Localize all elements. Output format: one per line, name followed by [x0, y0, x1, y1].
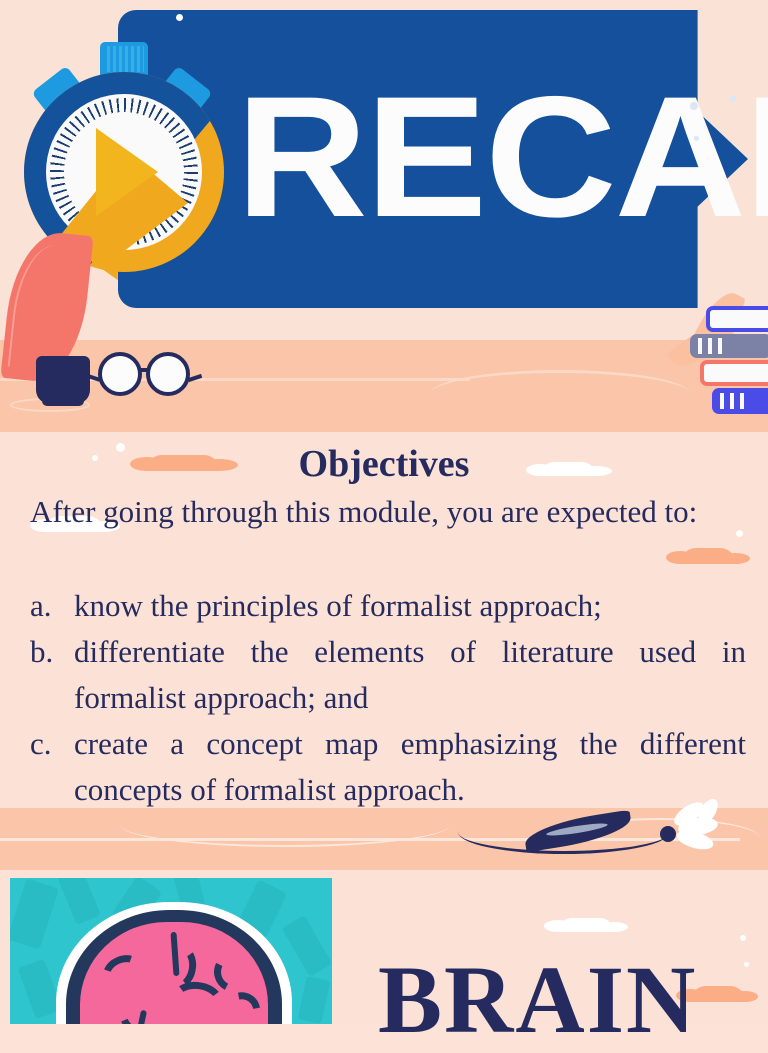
book-icon-4 [712, 388, 768, 414]
cloud-icon [690, 986, 746, 1002]
sparkle-dot-icon [744, 962, 749, 967]
book-icon-1 [706, 306, 768, 332]
brain-bg-pattern [282, 915, 332, 976]
play-triangle-icon [96, 128, 158, 216]
brain-bg-pattern [298, 976, 331, 1024]
objectives-list: a. know the principles of formalist appr… [30, 583, 746, 813]
brain-heading: BRAIN [378, 952, 697, 1048]
page-title: Objectives [0, 442, 768, 486]
glasses-bridge [140, 368, 150, 372]
book-icon-2 [690, 334, 768, 358]
sparkle-dot-icon [740, 935, 746, 941]
list-item-marker: b. [30, 629, 74, 721]
quill-knob-icon [660, 826, 676, 842]
sparkle-dot-icon [694, 136, 699, 141]
list-item-text: differentiate the elements of literature… [74, 629, 746, 721]
glasses-lens-right [146, 352, 190, 396]
brain-bg-pattern [57, 878, 101, 925]
list-item-marker: c. [30, 721, 74, 813]
cloud-icon [558, 918, 614, 932]
list-item: a. know the principles of formalist appr… [30, 583, 746, 629]
glasses-lens-left [98, 352, 142, 396]
list-item-text: create a concept map emphasizing the dif… [74, 721, 746, 813]
brain-illustration [10, 878, 332, 1024]
plant-pot-icon [36, 356, 90, 404]
list-item-marker: a. [30, 583, 74, 629]
recap-title: RECAP [236, 62, 734, 252]
list-item: c. create a concept map emphasizing the … [30, 721, 746, 813]
list-item: b. differentiate the elements of literat… [30, 629, 746, 721]
list-item-text: know the principles of formalist approac… [74, 583, 746, 629]
stopwatch-crown-ridges [104, 46, 144, 72]
sparkle-dot-icon [176, 14, 183, 21]
intro-paragraph: After going through this module, you are… [30, 490, 742, 534]
brain-bg-pattern [10, 878, 59, 949]
sparkle-dot-icon [730, 96, 736, 102]
plant-pot-base [42, 398, 84, 406]
book-icon-3 [700, 360, 768, 386]
cloud-icon [680, 548, 736, 564]
sparkle-dot-icon [690, 102, 698, 110]
